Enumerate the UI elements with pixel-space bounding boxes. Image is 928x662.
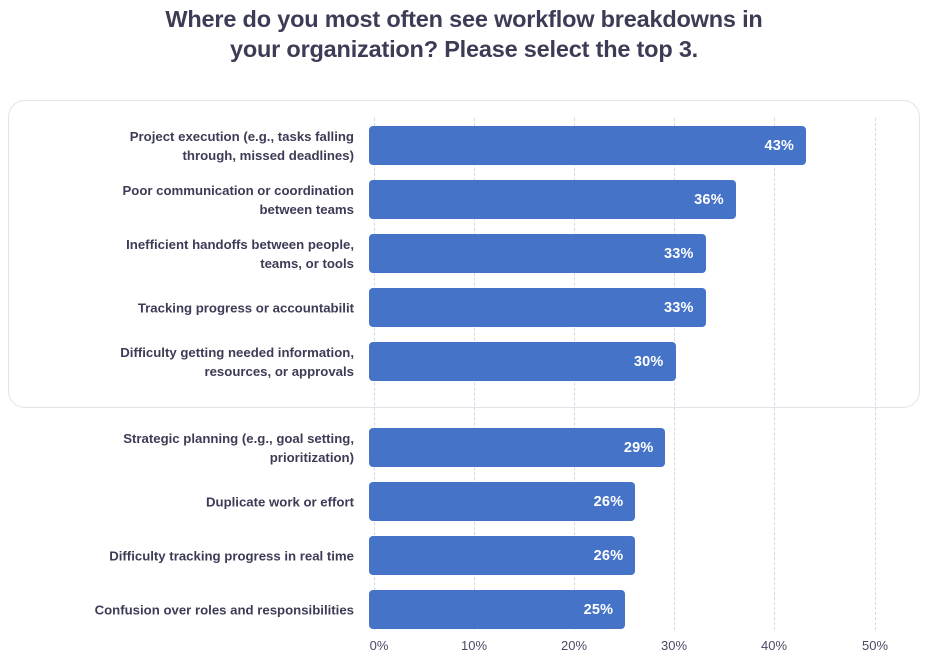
- category-label-line: Confusion over roles and responsibilitie…: [24, 600, 354, 619]
- bar-row: Duplicate work or effort26%: [0, 482, 928, 521]
- bar-row: Project execution (e.g., tasks fallingth…: [0, 126, 928, 165]
- category-label: Tracking progress or accountabilit: [24, 298, 354, 317]
- category-label: Project execution (e.g., tasks fallingth…: [24, 127, 354, 165]
- category-label-line: through, missed deadlines): [24, 146, 354, 165]
- category-label-line: Strategic planning (e.g., goal setting,: [24, 429, 354, 448]
- category-label-line: Project execution (e.g., tasks falling: [24, 127, 354, 146]
- category-label-line: Poor communication or coordination: [24, 181, 354, 200]
- category-label: Strategic planning (e.g., goal setting,p…: [24, 429, 354, 467]
- category-label: Inefficient handoffs between people,team…: [24, 235, 354, 273]
- bar-row: Inefficient handoffs between people,team…: [0, 234, 928, 273]
- category-label-line: teams, or tools: [24, 254, 354, 273]
- category-label: Duplicate work or effort: [24, 492, 354, 511]
- category-label-line: Difficulty tracking progress in real tim…: [24, 546, 354, 565]
- category-label: Confusion over roles and responsibilitie…: [24, 600, 354, 619]
- bar-row: Difficulty tracking progress in real tim…: [0, 536, 928, 575]
- bar-value-label: 33%: [664, 300, 706, 316]
- bar[interactable]: 26%: [369, 536, 635, 575]
- bar-value-label: 36%: [694, 192, 736, 208]
- bar-value-label: 43%: [765, 138, 807, 154]
- bar[interactable]: 33%: [369, 234, 706, 273]
- bar-value-label: 30%: [634, 354, 676, 370]
- bar[interactable]: 43%: [369, 126, 806, 165]
- x-tick-label: 20%: [561, 638, 587, 653]
- x-tick-label: 0%: [370, 638, 389, 653]
- category-label-line: prioritization): [24, 448, 354, 467]
- x-tick-label: 10%: [461, 638, 487, 653]
- bar-row: Strategic planning (e.g., goal setting,p…: [0, 428, 928, 467]
- bar[interactable]: 25%: [369, 590, 625, 629]
- x-axis-tick-labels: 0%10%20%30%40%50%: [0, 638, 928, 658]
- category-label: Difficulty getting needed information,re…: [24, 343, 354, 381]
- plot-area: Project execution (e.g., tasks fallingth…: [0, 0, 928, 662]
- category-label-line: Difficulty getting needed information,: [24, 343, 354, 362]
- bar-value-label: 33%: [664, 246, 706, 262]
- bar[interactable]: 30%: [369, 342, 676, 381]
- category-label-line: Duplicate work or effort: [24, 492, 354, 511]
- x-tick-label: 50%: [862, 638, 888, 653]
- bar-value-label: 29%: [624, 440, 666, 456]
- category-label: Poor communication or coordinationbetwee…: [24, 181, 354, 219]
- x-tick-label: 30%: [661, 638, 687, 653]
- bar-row: Poor communication or coordinationbetwee…: [0, 180, 928, 219]
- bar[interactable]: 36%: [369, 180, 736, 219]
- category-label-line: resources, or approvals: [24, 362, 354, 381]
- bar-value-label: 25%: [584, 602, 626, 618]
- x-tick-label: 40%: [761, 638, 787, 653]
- chart-canvas: Where do you most often see workflow bre…: [0, 0, 928, 662]
- bar-value-label: 26%: [594, 548, 636, 564]
- category-label-line: Tracking progress or accountabilit: [24, 298, 354, 317]
- category-label: Difficulty tracking progress in real tim…: [24, 546, 354, 565]
- bar-row: Tracking progress or accountabilit33%: [0, 288, 928, 327]
- bar-value-label: 26%: [594, 494, 636, 510]
- bar-row: Confusion over roles and responsibilitie…: [0, 590, 928, 629]
- bar[interactable]: 33%: [369, 288, 706, 327]
- category-label-line: Inefficient handoffs between people,: [24, 235, 354, 254]
- bar[interactable]: 26%: [369, 482, 635, 521]
- bar-row: Difficulty getting needed information,re…: [0, 342, 928, 381]
- category-label-line: between teams: [24, 200, 354, 219]
- bar[interactable]: 29%: [369, 428, 665, 467]
